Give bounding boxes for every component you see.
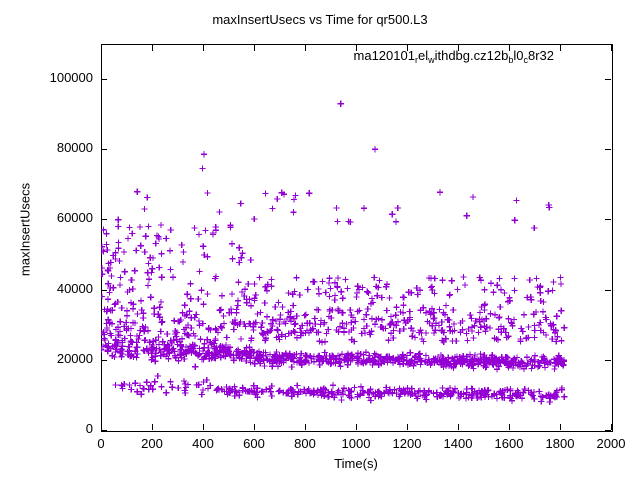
x-axis-tick-mark <box>254 424 255 430</box>
x-axis-tick-mark-top <box>152 45 153 51</box>
x-axis-label: Time(s) <box>101 456 611 471</box>
y-axis-tick-mark-right <box>605 430 611 431</box>
y-axis-tick-mark <box>101 360 107 361</box>
x-axis-tick-label: 2000 <box>576 436 640 451</box>
x-axis-tick-mark <box>356 424 357 430</box>
y-axis-tick-mark <box>101 149 107 150</box>
y-axis-tick-mark <box>101 290 107 291</box>
x-axis-tick-mark <box>560 424 561 430</box>
x-axis-tick-mark <box>458 424 459 430</box>
y-axis-label: maxInsertUsecs <box>18 150 33 310</box>
y-axis-tick-mark-right <box>605 360 611 361</box>
page-title: maxInsertUsecs vs Time for qr500.L3 <box>0 12 640 27</box>
y-axis-tick-mark-right <box>605 290 611 291</box>
plot-frame-border <box>101 44 613 432</box>
x-axis-tick-mark-top <box>101 45 102 51</box>
x-axis-tick-mark <box>509 424 510 430</box>
gnuplot-scatter-plot: maxInsertUsecs vs Time for qr500.L3 0200… <box>0 0 640 480</box>
x-axis-tick-mark <box>611 424 612 430</box>
x-axis-tick-mark <box>152 424 153 430</box>
y-axis-tick-label: 40000 <box>0 281 93 296</box>
y-axis-tick-mark <box>101 219 107 220</box>
y-axis-tick-mark <box>101 79 107 80</box>
x-axis-tick-mark <box>101 424 102 430</box>
y-axis-tick-mark <box>101 430 107 431</box>
y-axis-tick-label: 20000 <box>0 351 93 366</box>
y-axis-tick-mark-right <box>605 219 611 220</box>
y-axis-tick-mark-right <box>605 149 611 150</box>
legend: ma120101relwithdbg.cz12bbl0c8r32 <box>280 48 600 68</box>
y-axis-tick-label: 80000 <box>0 140 93 155</box>
x-axis-tick-mark-top <box>254 45 255 51</box>
x-axis-tick-mark <box>407 424 408 430</box>
x-axis-tick-mark-top <box>203 45 204 51</box>
y-axis-tick-label: 0 <box>0 421 93 436</box>
legend-entry-label: ma120101relwithdbg.cz12bbl0c8r32 <box>354 48 554 63</box>
x-axis-tick-mark <box>305 424 306 430</box>
y-axis-tick-label: 100000 <box>0 70 93 85</box>
x-axis-tick-mark-top <box>611 45 612 51</box>
y-axis-tick-mark-right <box>605 79 611 80</box>
y-axis-tick-label: 60000 <box>0 210 93 225</box>
x-axis-tick-mark <box>203 424 204 430</box>
